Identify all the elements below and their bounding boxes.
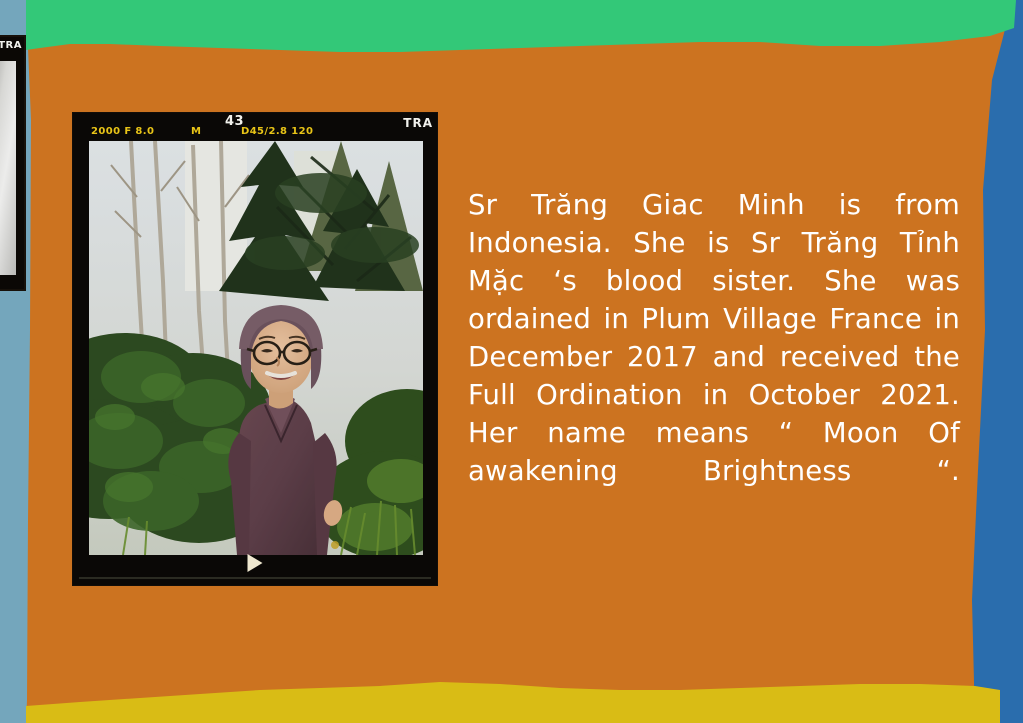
film-image-strip-left <box>0 61 16 275</box>
film-exposure-text: 2000 F 8.0 <box>91 126 154 137</box>
film-footer-line <box>79 577 431 579</box>
top-green-band <box>26 0 1016 52</box>
caption-block: Sr Trăng Giac Minh is from Indonesia. Sh… <box>468 186 960 528</box>
portrait-photo <box>89 141 423 555</box>
film-advance-triangle-icon <box>248 554 263 572</box>
caption-text: Sr Trăng Giac Minh is from Indonesia. Sh… <box>468 186 960 528</box>
photo-frame-left-partial[interactable]: TRA <box>0 35 26 291</box>
film-lens-text: D45/2.8 120 <box>241 126 313 137</box>
film-header: 43 TRA 2000 F 8.0 M D45/2.8 120 <box>73 113 437 141</box>
slide-canvas: TRA 43 TRA 2000 F 8.0 M D45/2.8 120 <box>0 0 1023 723</box>
film-brand-label: TRA <box>403 116 433 130</box>
film-brand-label-left: TRA <box>0 41 22 51</box>
photo-frame[interactable]: 43 TRA 2000 F 8.0 M D45/2.8 120 <box>73 113 437 585</box>
film-mode-text: M <box>191 126 201 137</box>
